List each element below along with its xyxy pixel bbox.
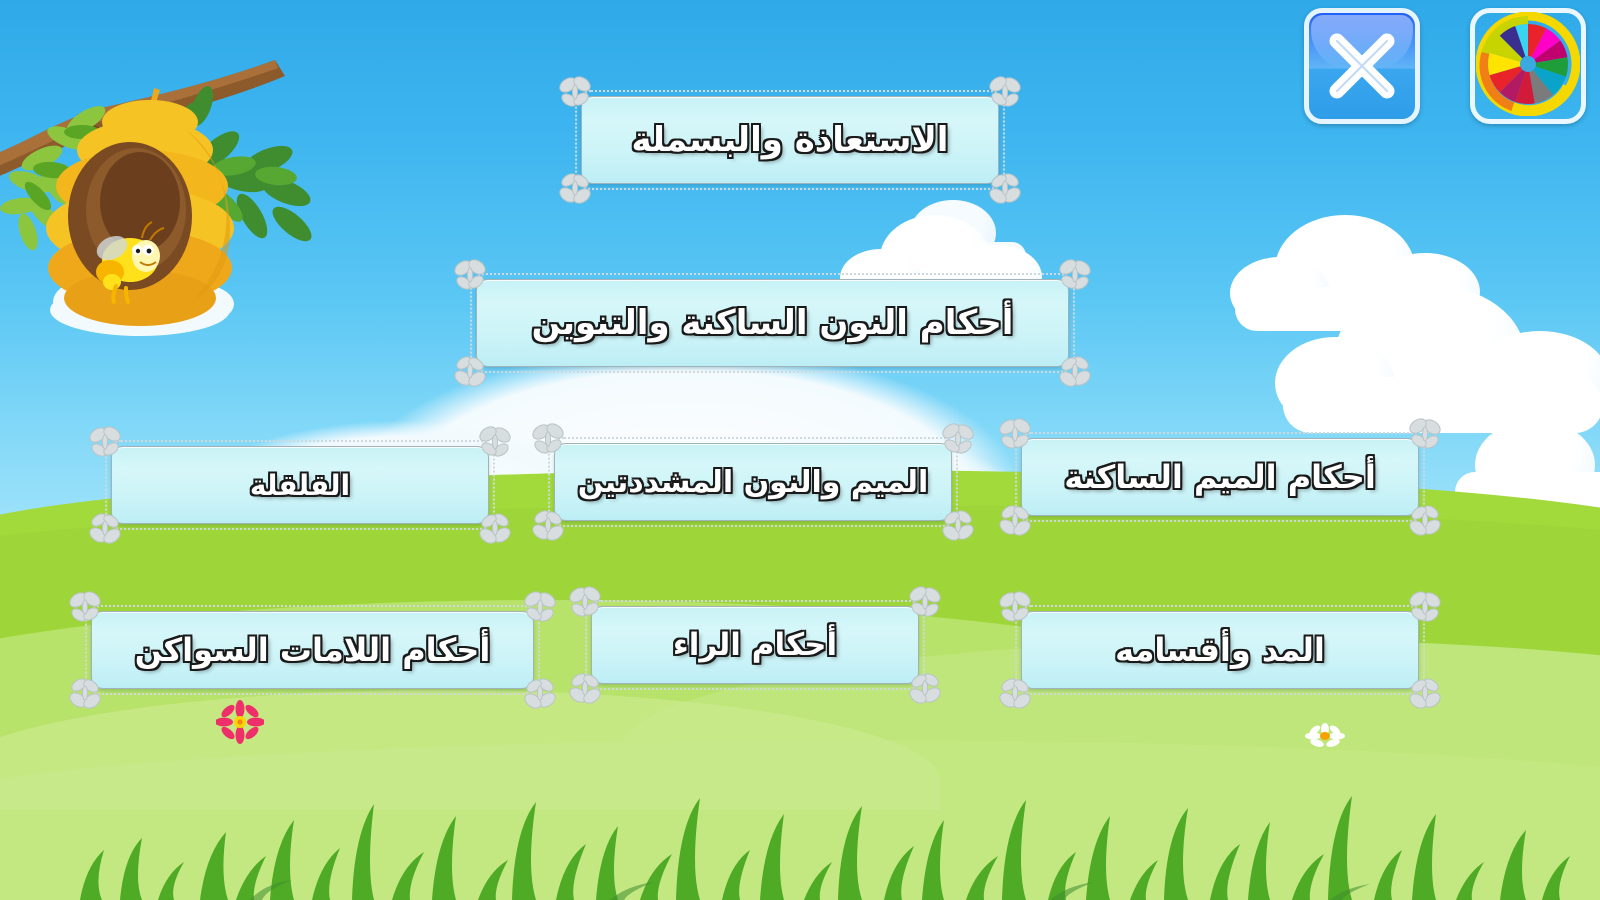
menu-button-surface: القلقلة [111,446,489,524]
menu-button-meem-sakinah[interactable]: أحكام الميم الساكنة [1015,432,1425,522]
close-x-icon [1325,29,1399,103]
menu-button-label: الميم والنون المشددتين [578,465,929,500]
close-button[interactable] [1304,8,1420,124]
menu-button-noon-sakinah[interactable]: أحكام النون الساكنة والتنوين [470,273,1075,373]
menu-button-istiaatha[interactable]: الاستعاذة والبسملة [575,90,1005,190]
beehive-decoration [0,10,350,340]
menu-button-surface: المد وأقسامه [1021,611,1419,689]
menu-button-label: القلقلة [250,469,350,502]
menu-button-surface: الميم والنون المشددتين [554,443,952,521]
pink-flower [216,700,264,744]
white-daisy [1305,722,1345,750]
menu-button-label: أحكام اللامات السواكن [135,631,491,669]
menu-button-label: أحكام النون الساكنة والتنوين [532,303,1014,343]
menu-button-meem-noon-mushaddadatain[interactable]: الميم والنون المشددتين [548,437,958,527]
app-screen: الاستعاذة والبسملة أحكام النون الساكنة و… [0,0,1600,900]
menu-button-raa[interactable]: أحكام الراء [585,600,925,690]
menu-button-label: أحكام الراء [673,627,837,663]
top-button-bar [1304,8,1586,124]
menu-button-lamat-sawakin[interactable]: أحكام اللامات السواكن [85,605,540,695]
menu-button-label: المد وأقسامه [1115,631,1325,669]
menu-button-surface: الاستعاذة والبسملة [581,96,999,184]
color-wheel-button[interactable] [1470,8,1586,124]
color-wheel-icon [1476,12,1580,120]
menu-button-qalqalah[interactable]: القلقلة [105,440,495,530]
menu-button-surface: أحكام الميم الساكنة [1021,438,1419,516]
menu-button-surface: أحكام اللامات السواكن [91,611,534,689]
menu-button-label: أحكام الميم الساكنة [1064,458,1376,496]
menu-button-surface: أحكام النون الساكنة والتنوين [476,279,1069,367]
menu-button-label: الاستعاذة والبسملة [632,120,949,160]
menu-button-surface: أحكام الراء [591,606,919,684]
menu-button-madd[interactable]: المد وأقسامه [1015,605,1425,695]
